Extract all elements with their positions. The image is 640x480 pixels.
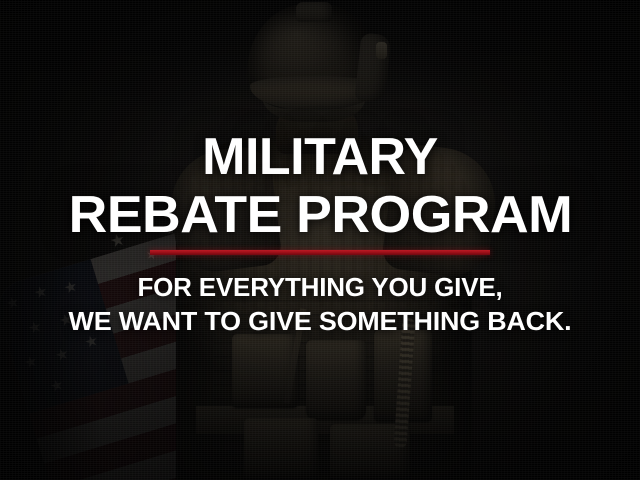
red-divider	[150, 250, 490, 255]
military-rebate-program-poster: ★ ★ ★ ★ ★ ★ ★ ★ ★ ★ ★ ★	[0, 0, 640, 480]
subtitle-line-1: FOR EVERYTHING YOU GIVE,	[137, 272, 502, 303]
page-title-line-2: REBATE PROGRAM	[68, 189, 572, 241]
poster-content: MILITARY REBATE PROGRAM FOR EVERYTHING Y…	[0, 0, 640, 480]
page-title-line-1: MILITARY	[202, 131, 438, 183]
subtitle-line-2: WE WANT TO GIVE SOMETHING BACK.	[69, 306, 572, 337]
